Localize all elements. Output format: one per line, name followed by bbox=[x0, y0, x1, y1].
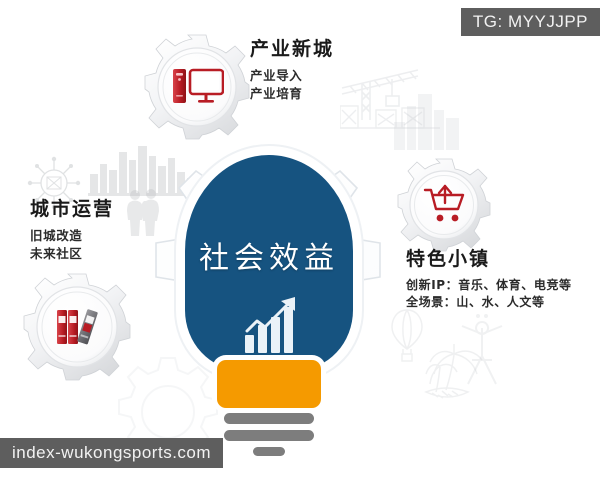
binder-folders-icon bbox=[54, 302, 102, 350]
bulb-base bbox=[217, 360, 321, 408]
lightbulb-center: 社会效益 bbox=[185, 155, 353, 425]
node-subtitle: 产业导入 bbox=[250, 67, 334, 85]
buildings-silhouette bbox=[392, 92, 462, 150]
infographic-canvas: 社会效益 bbox=[0, 0, 600, 480]
bulb-stripe bbox=[224, 430, 314, 441]
palm-trees-icon bbox=[424, 342, 510, 404]
node-title: 特色小镇 bbox=[406, 248, 572, 272]
construction-crane-icon bbox=[340, 62, 458, 140]
node-subtitle: 旧城改造 bbox=[30, 227, 114, 245]
standing-person-icon bbox=[456, 312, 508, 386]
node-title: 产业新城 bbox=[250, 38, 334, 62]
node-subtitle-list: 创新IP：音乐、体育、电竞等 全场景：山、水、人文等 bbox=[406, 277, 572, 312]
node-subtitle-list: 产业导入 产业培育 bbox=[250, 67, 334, 103]
hot-air-balloon-icon bbox=[390, 308, 424, 362]
shopping-cart-up-arrow-icon bbox=[423, 184, 467, 226]
bar-chart-growth-arrow-icon bbox=[243, 297, 305, 355]
watermark-top-right: TG: MYYJJPP bbox=[461, 8, 600, 36]
bulb-stripe bbox=[253, 447, 285, 456]
desktop-computer-icon bbox=[172, 66, 224, 108]
center-title: 社会效益 bbox=[185, 233, 353, 277]
node-subtitle-list: 旧城改造 未来社区 bbox=[30, 227, 114, 263]
node-subtitle: 全场景：山、水、人文等 bbox=[406, 294, 572, 311]
node-subtitle: 产业培育 bbox=[250, 85, 334, 103]
node-title: 城市运营 bbox=[30, 198, 114, 222]
label-characteristic-town: 特色小镇 创新IP：音乐、体育、电竞等 全场景：山、水、人文等 bbox=[406, 248, 572, 312]
label-industrial-new-city: 产业新城 产业导入 产业培育 bbox=[250, 38, 334, 103]
node-subtitle: 创新IP：音乐、体育、电竞等 bbox=[406, 277, 572, 294]
label-city-operation: 城市运营 旧城改造 未来社区 bbox=[30, 198, 114, 263]
node-subtitle: 未来社区 bbox=[30, 245, 114, 263]
bulb-stripe bbox=[224, 413, 314, 424]
watermark-bottom-left: index-wukongsports.com bbox=[0, 438, 223, 468]
